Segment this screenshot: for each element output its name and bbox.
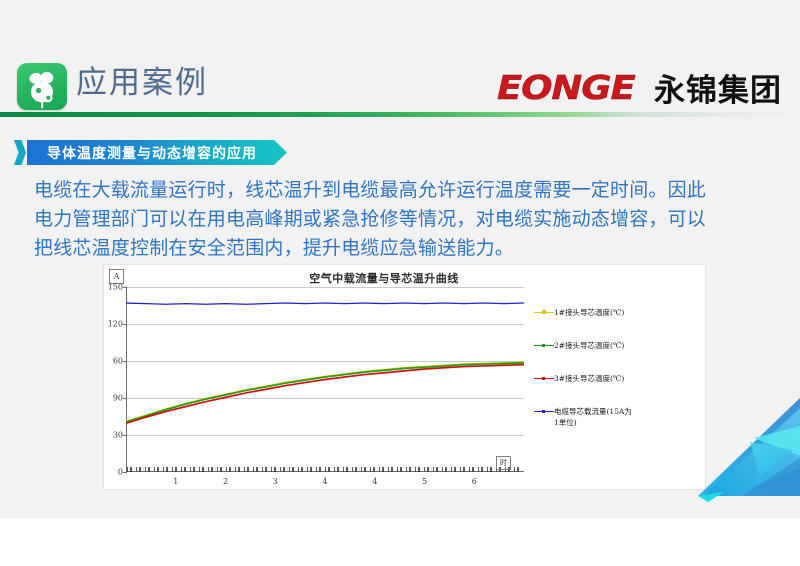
series-line bbox=[126, 303, 524, 304]
page-bottom-margin bbox=[0, 518, 800, 566]
series-line bbox=[126, 362, 524, 421]
y-axis-tick-label: 0 bbox=[118, 468, 123, 477]
legend-item: 1#接头导芯温度(℃) bbox=[534, 307, 699, 318]
legend-swatch-icon bbox=[534, 407, 554, 416]
x-axis-tick-label: 3 bbox=[273, 477, 278, 486]
x-axis-tick-label: 4 bbox=[322, 477, 327, 486]
company-logo: EONGE 永锦集团 bbox=[497, 68, 782, 106]
x-axis-data-band bbox=[127, 467, 523, 472]
corner-polygon-decoration bbox=[690, 398, 800, 518]
body-line-2: 电力管理部门可以在用电高峰期或紧急抢修等情况，对电缆实施动态增容，可以 bbox=[34, 205, 764, 234]
plot-area: 0309060120150 1234456 bbox=[126, 287, 524, 472]
x-axis-tick-label: 6 bbox=[472, 477, 477, 486]
slide-canvas: 应用案例 EONGE 永锦集团 导体温度测量与动态增容的应用 电缆在大载流量运行… bbox=[0, 0, 800, 518]
legend-swatch-icon bbox=[534, 374, 554, 383]
chart-card: A 空气中载流量与导芯温升曲线 0309060120150 1234456 时 … bbox=[103, 264, 706, 490]
legend-item: 电缆导芯载流量(15A为 1单位) bbox=[534, 406, 699, 428]
legend-item: 2#接头导芯温度(℃) bbox=[534, 340, 699, 351]
series-layer bbox=[126, 287, 524, 472]
legend-label: 1#接头导芯温度(℃) bbox=[554, 307, 624, 318]
y-axis-tick-label: 120 bbox=[108, 320, 123, 329]
slide-header: 应用案例 EONGE 永锦集团 bbox=[0, 0, 800, 114]
chart-title: 空气中载流量与导芯温升曲线 bbox=[234, 270, 534, 286]
legend-label: 2#接头导芯温度(℃) bbox=[554, 340, 624, 351]
x-axis-tick-label: 1 bbox=[173, 477, 178, 486]
legend-label: 电缆导芯载流量(15A为 1单位) bbox=[554, 406, 632, 428]
y-axis-tick bbox=[123, 472, 127, 473]
legend-item: 3#接头导芯温度(℃) bbox=[534, 373, 699, 384]
legend-swatch-icon bbox=[534, 341, 554, 350]
legend-label: 3#接头导芯温度(℃) bbox=[554, 373, 624, 384]
chart-legend: 1#接头导芯温度(℃)2#接头导芯温度(℃)3#接头导芯温度(℃)电缆导芯载流量… bbox=[534, 307, 699, 450]
series-line bbox=[126, 365, 524, 424]
y-axis-tick-label: 60 bbox=[113, 357, 123, 366]
y-axis-tick-label: 30 bbox=[113, 431, 123, 440]
y-axis-tick-label: 150 bbox=[108, 283, 123, 292]
section-ribbon: 导体温度测量与动态增容的应用 bbox=[14, 140, 287, 165]
section-title: 导体温度测量与动态增容的应用 bbox=[47, 143, 257, 163]
page-title: 应用案例 bbox=[76, 62, 208, 104]
logo-chinese-text: 永锦集团 bbox=[654, 65, 782, 110]
header-divider bbox=[0, 112, 800, 117]
ribbon-tail-chevron-icon bbox=[14, 140, 26, 165]
x-axis-tick-label: 2 bbox=[223, 477, 228, 486]
body-line-3: 把线芯温度控制在安全范围内，提升电缆应急输送能力。 bbox=[34, 234, 764, 263]
ribbon-body: 导体温度测量与动态增容的应用 bbox=[27, 140, 287, 165]
y-axis-tick-label: 90 bbox=[113, 394, 123, 403]
series-line bbox=[126, 363, 524, 422]
x-axis-tick-label: 5 bbox=[422, 477, 427, 486]
body-paragraph: 电缆在大载流量运行时，线芯温升到电缆最高允许运行温度需要一定时间。因此 电力管理… bbox=[34, 176, 764, 263]
legend-swatch-icon bbox=[534, 308, 554, 317]
x-axis-tick-label: 4 bbox=[372, 477, 377, 486]
logo-latin-text: EONGE bbox=[497, 68, 635, 107]
x-axis-unit-label: 时 bbox=[496, 456, 511, 470]
leaf-badge-icon bbox=[17, 63, 67, 110]
body-line-1: 电缆在大载流量运行时，线芯温升到电缆最高允许运行温度需要一定时间。因此 bbox=[34, 176, 764, 205]
